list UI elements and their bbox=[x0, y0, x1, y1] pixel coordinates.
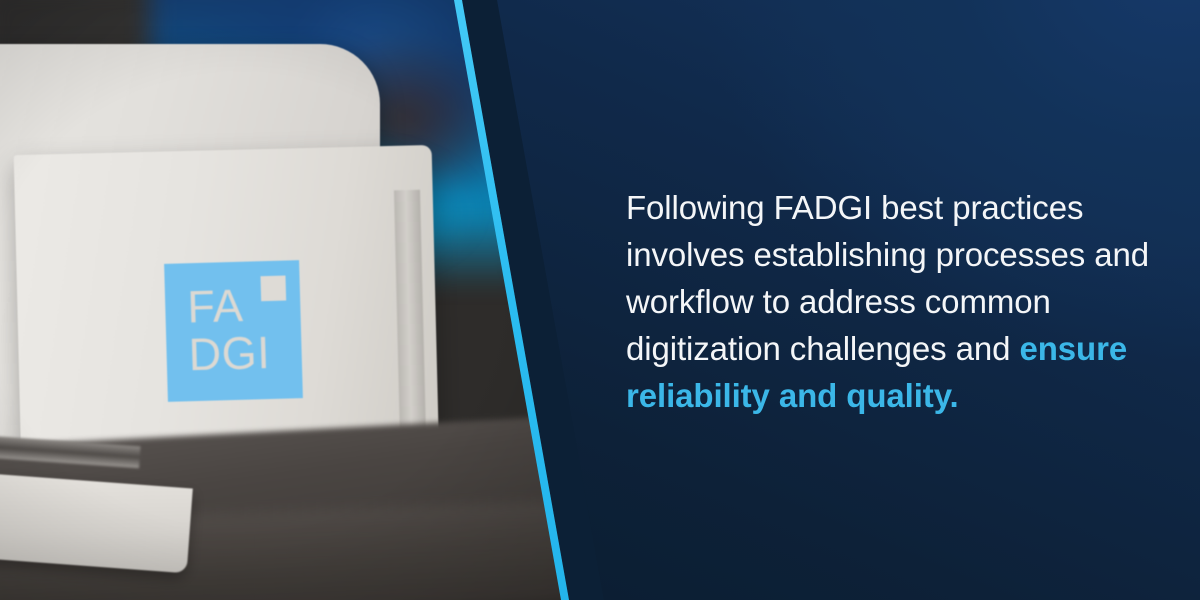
headline: Following FADGI best practices involves … bbox=[626, 184, 1166, 419]
fadgi-banner: FA DGI Following FADGI best practices in… bbox=[0, 0, 1200, 600]
